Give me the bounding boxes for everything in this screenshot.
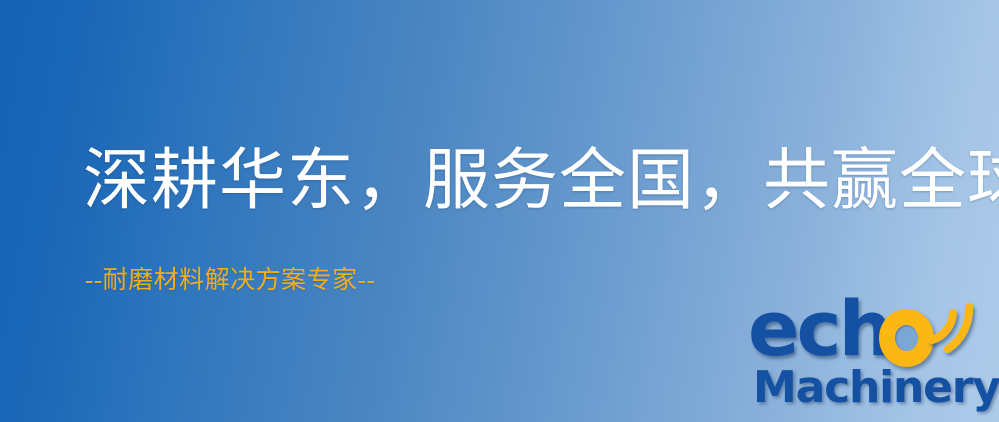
page-title: 深耕华东，服务全国，共赢全球 [83,148,999,215]
echo-machinery-logo: ech M [748,298,999,422]
logo-wordmark-machinery: Machinery® [753,366,999,410]
promotional-banner: 深耕华东，服务全国，共赢全球 --耐磨材料解决方案专家-- ech [0,0,999,422]
echo-wave-icon [926,295,982,357]
logo-wordmark-echo-prefix: ech [748,291,890,367]
page-subtitle: --耐磨材料解决方案专家-- [85,268,375,293]
logo-wordmark-machinery-text: Machinery [753,362,999,413]
logo-o-counter [895,325,918,351]
